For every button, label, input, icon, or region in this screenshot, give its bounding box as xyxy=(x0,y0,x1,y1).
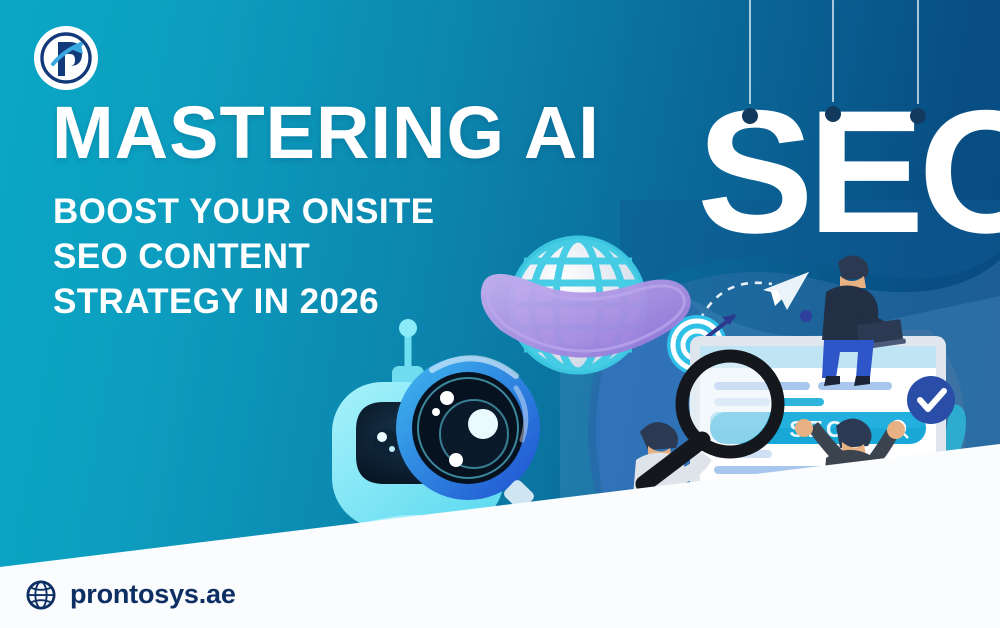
site-name: prontosys.ae xyxy=(70,579,236,610)
page-title: MASTERING AI xyxy=(52,96,600,170)
globe-icon xyxy=(26,580,56,610)
seo-promo-banner: SEO xyxy=(0,0,1000,628)
seo-hanging-letters: SEO xyxy=(697,75,1000,270)
subtitle-line-3: STRATEGY IN 2026 xyxy=(53,280,434,325)
subtitle-line-2: SEO CONTENT xyxy=(53,235,434,280)
prontosys-logo[interactable] xyxy=(34,26,98,90)
footer: prontosys.ae xyxy=(0,538,1000,628)
website-link[interactable]: prontosys.ae xyxy=(26,579,236,610)
svg-text:SEO: SEO xyxy=(697,75,1000,270)
subtitle: BOOST YOUR ONSITE SEO CONTENT STRATEGY I… xyxy=(53,190,434,324)
dot-decor xyxy=(800,310,812,322)
subtitle-line-1: BOOST YOUR ONSITE xyxy=(53,190,434,235)
check-badge-icon xyxy=(907,376,955,424)
